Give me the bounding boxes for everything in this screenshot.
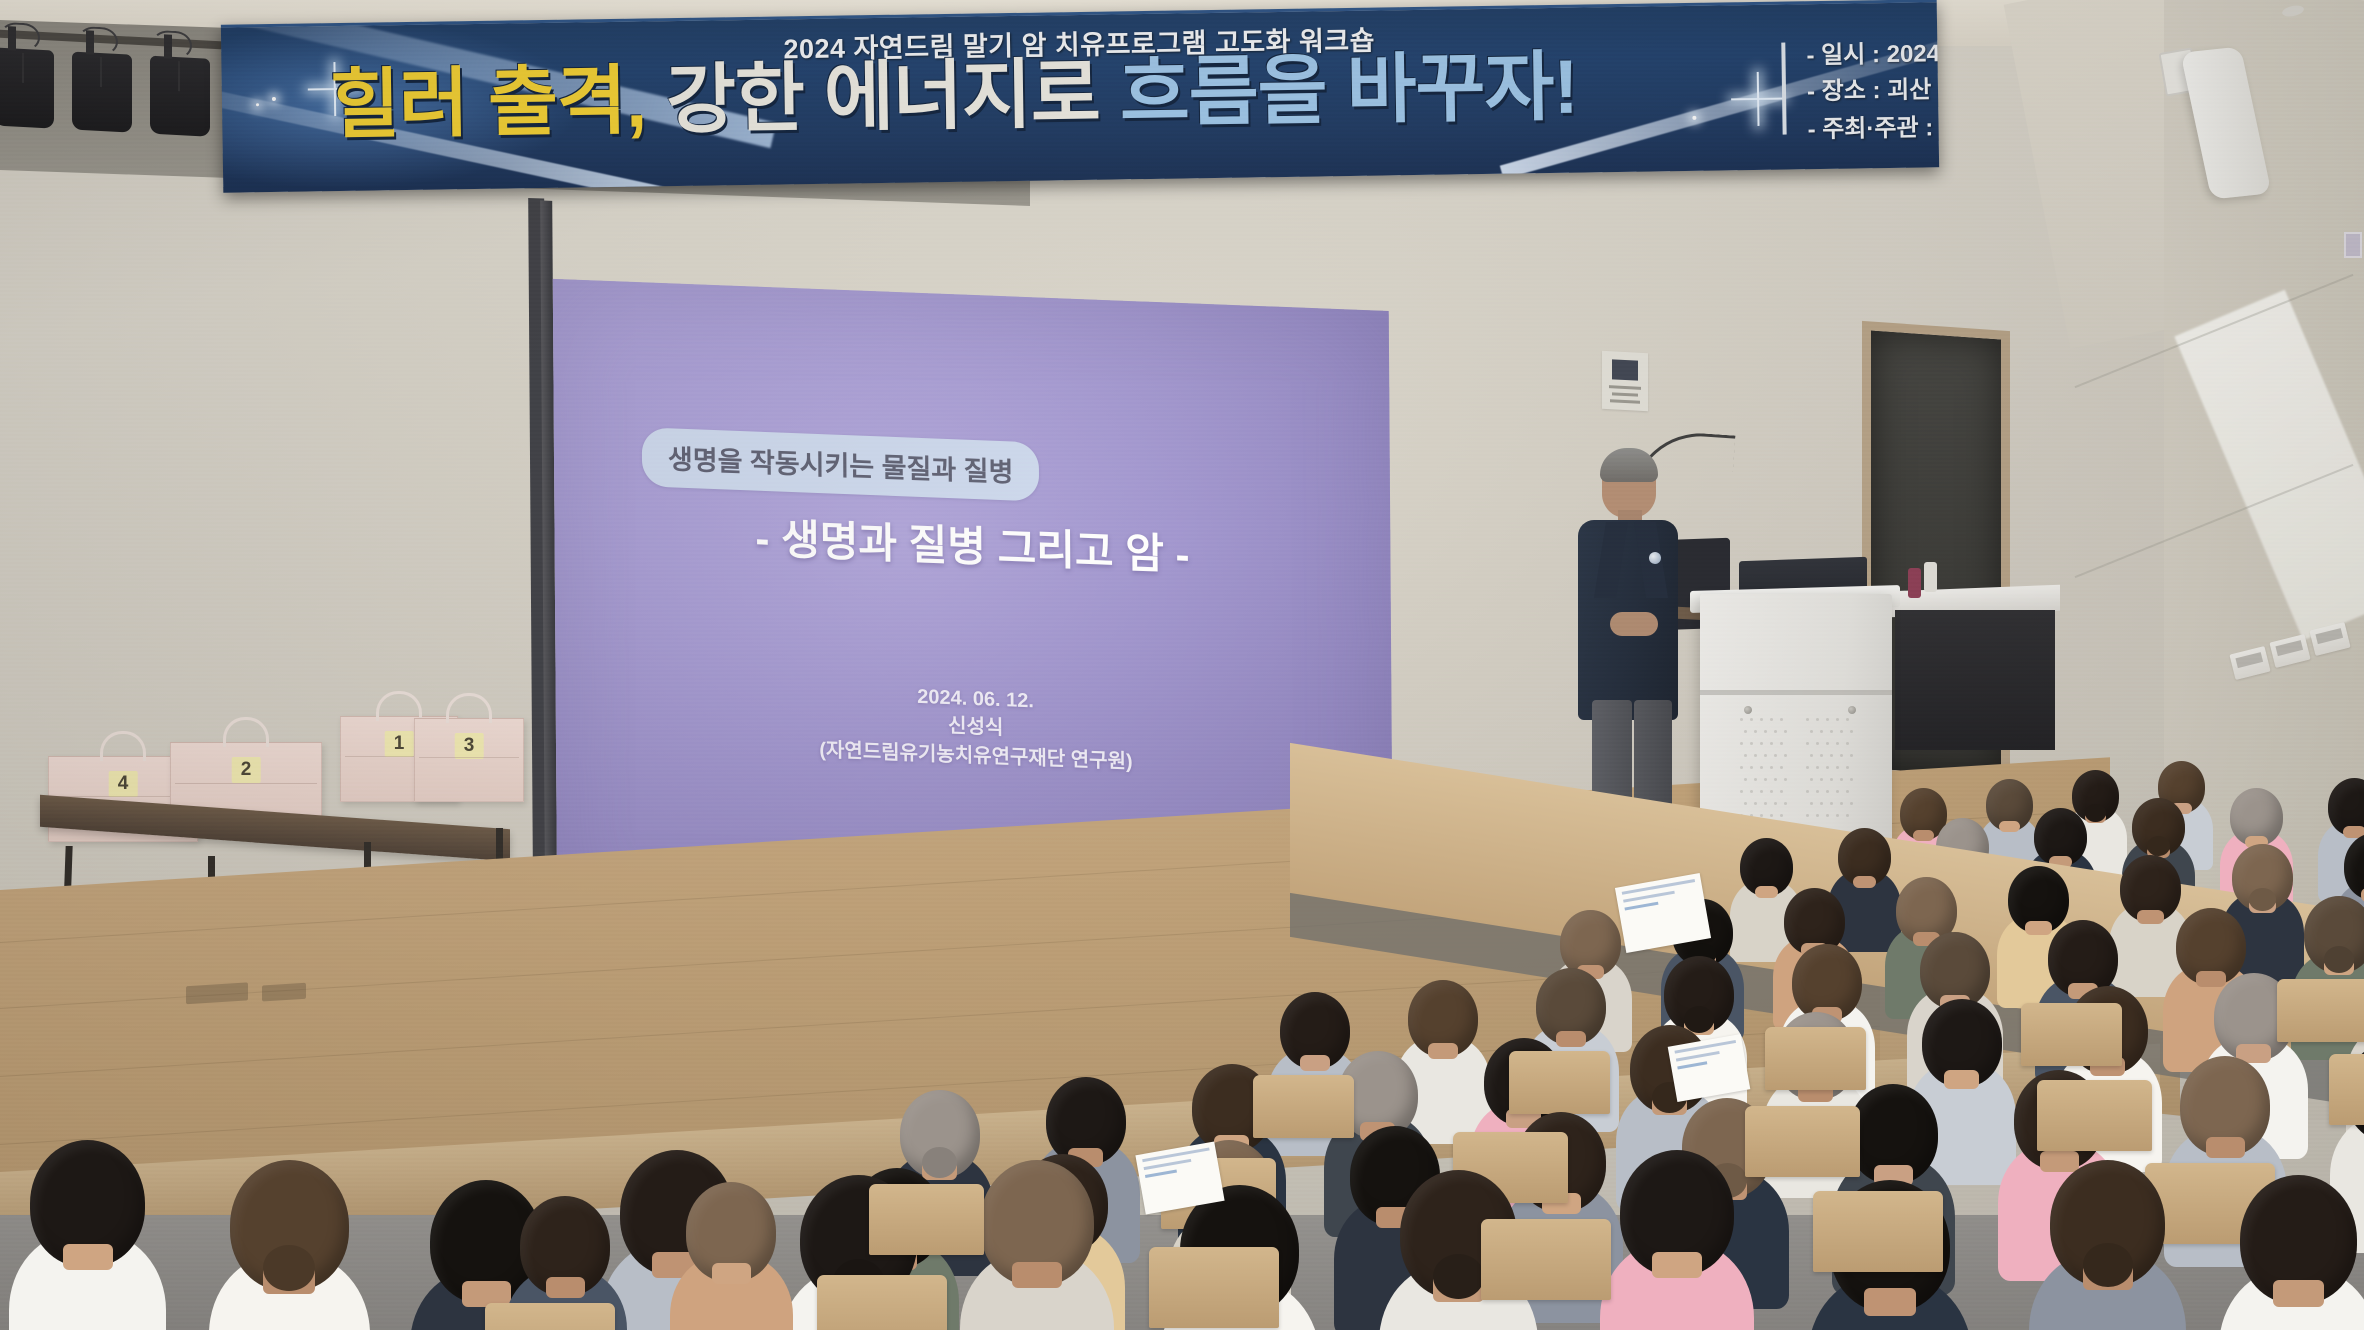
auditorium-seat[interactable] xyxy=(1765,1027,1866,1090)
sparkle-star-icon xyxy=(1738,79,1779,120)
audience-neck xyxy=(2137,910,2164,924)
speaker-hair xyxy=(1600,448,1658,482)
audience-neck xyxy=(63,1244,113,1271)
bottle-icon xyxy=(1924,562,1937,592)
auditorium-seat[interactable] xyxy=(817,1275,947,1330)
audience-member xyxy=(2120,855,2181,980)
stage-light-icon xyxy=(150,56,210,137)
bottle-icon xyxy=(1908,568,1921,598)
audience-hair-bun xyxy=(2083,1243,2133,1287)
auditorium-seat[interactable] xyxy=(869,1184,983,1255)
podium-fastener xyxy=(1744,706,1752,714)
stage-light-icon xyxy=(72,52,132,133)
speaker-hands xyxy=(1610,612,1658,636)
auditorium-seat[interactable] xyxy=(2037,1080,2151,1151)
organizer-label: - 주최·주관 : xyxy=(1807,114,1933,143)
audience-member xyxy=(2050,1160,2165,1330)
audience-neck xyxy=(1012,1262,1062,1288)
podium-fastener xyxy=(1848,706,1856,714)
banner-divider xyxy=(1781,43,1786,135)
headline-part-yellow: 힐러 출격, xyxy=(329,58,646,148)
audience-neck xyxy=(2273,1280,2324,1307)
auditorium-seat[interactable] xyxy=(1149,1247,1279,1328)
stage-light-icon xyxy=(0,47,54,128)
auditorium-seat[interactable] xyxy=(1813,1191,1943,1272)
audience-hair-bun xyxy=(2085,804,2105,822)
wall-sign-icon xyxy=(2344,232,2362,258)
audience-neck xyxy=(1652,1252,1702,1278)
auditorium-seat[interactable] xyxy=(1253,1075,1354,1138)
audience-neck xyxy=(2206,1137,2245,1158)
audience-hair-bun xyxy=(1433,1254,1484,1299)
event-banner: 2024 자연드림 말기 암 치유프로그램 고도화 워크숍 힐러 출격, 강한 … xyxy=(221,0,1939,193)
plaque-glyph-icon xyxy=(1612,359,1638,380)
audience-neck xyxy=(1428,1043,1459,1059)
auditorium-seat[interactable] xyxy=(2021,1003,2122,1066)
audience-member xyxy=(686,1182,776,1330)
audience-neck xyxy=(1755,886,1778,898)
auditorium-seat[interactable] xyxy=(2277,979,2364,1042)
auditorium-seat[interactable] xyxy=(485,1303,615,1330)
audience-member xyxy=(980,1160,1094,1330)
audience-neck xyxy=(1300,1055,1331,1071)
audience-area xyxy=(0,760,2364,1330)
presentation-hall-photo: 2024 자연드림 말기 암 치유프로그램 고도화 워크숍 힐러 출격, 강한 … xyxy=(0,0,2364,1330)
auditorium-seat[interactable] xyxy=(1509,1051,1610,1114)
audience-neck xyxy=(1853,876,1876,888)
audience-neck xyxy=(1913,830,1933,841)
auditorium-seat[interactable] xyxy=(1745,1106,1859,1177)
audience-member xyxy=(2240,1175,2357,1330)
audience-neck xyxy=(1944,1070,1979,1088)
banner-meta-block: - 일시 : 2024년 6월 12일 (수) - 장소 : 괴산 자연드림파크… xyxy=(1806,32,1939,149)
audience-neck xyxy=(712,1263,751,1284)
sparkle-dot-icon xyxy=(1692,116,1696,120)
auditorium-seat[interactable] xyxy=(2329,1054,2364,1125)
banner-meta-date: - 일시 : 2024년 6월 12일 (수) xyxy=(1806,32,1939,75)
audience-member xyxy=(1408,980,1478,1124)
audience-member xyxy=(30,1140,145,1330)
audience-hair-bun xyxy=(263,1245,315,1291)
auditorium-seat[interactable] xyxy=(1481,1219,1611,1300)
audience-neck xyxy=(1864,1288,1916,1316)
audience-neck xyxy=(546,1277,585,1298)
headline-part-blue: 흐름을 바꾸자! xyxy=(1119,45,1578,137)
banner-meta-venue: - 장소 : 괴산 자연드림파크 세이프넷홀 xyxy=(1807,68,1939,111)
audience-member xyxy=(230,1160,349,1330)
wall-plaque xyxy=(1602,351,1648,411)
bag-number-tag: 1 xyxy=(385,731,414,757)
audience-member xyxy=(1838,828,1891,937)
bag-number-tag: 3 xyxy=(455,733,484,759)
audience-member xyxy=(1620,1150,1734,1330)
stage-light-truss xyxy=(0,15,244,158)
sparkle-dot-icon xyxy=(272,97,276,101)
speaker-lapel-pin-icon xyxy=(1649,552,1661,564)
banner-meta-organizer: - 주최·주관 : N 항암생활연구소 xyxy=(1807,105,1939,149)
headline-part-white: 강한 에너지로 xyxy=(665,52,1100,143)
audience-hair-bun xyxy=(2249,888,2276,911)
podium-seam xyxy=(1700,690,1892,695)
banner-headline: 힐러 출격, 강한 에너지로 흐름을 바꾸자! xyxy=(330,51,1491,144)
audience-neck xyxy=(1999,821,2019,832)
side-counter-body xyxy=(1895,610,2055,750)
sparkle-dot-icon xyxy=(256,103,259,106)
